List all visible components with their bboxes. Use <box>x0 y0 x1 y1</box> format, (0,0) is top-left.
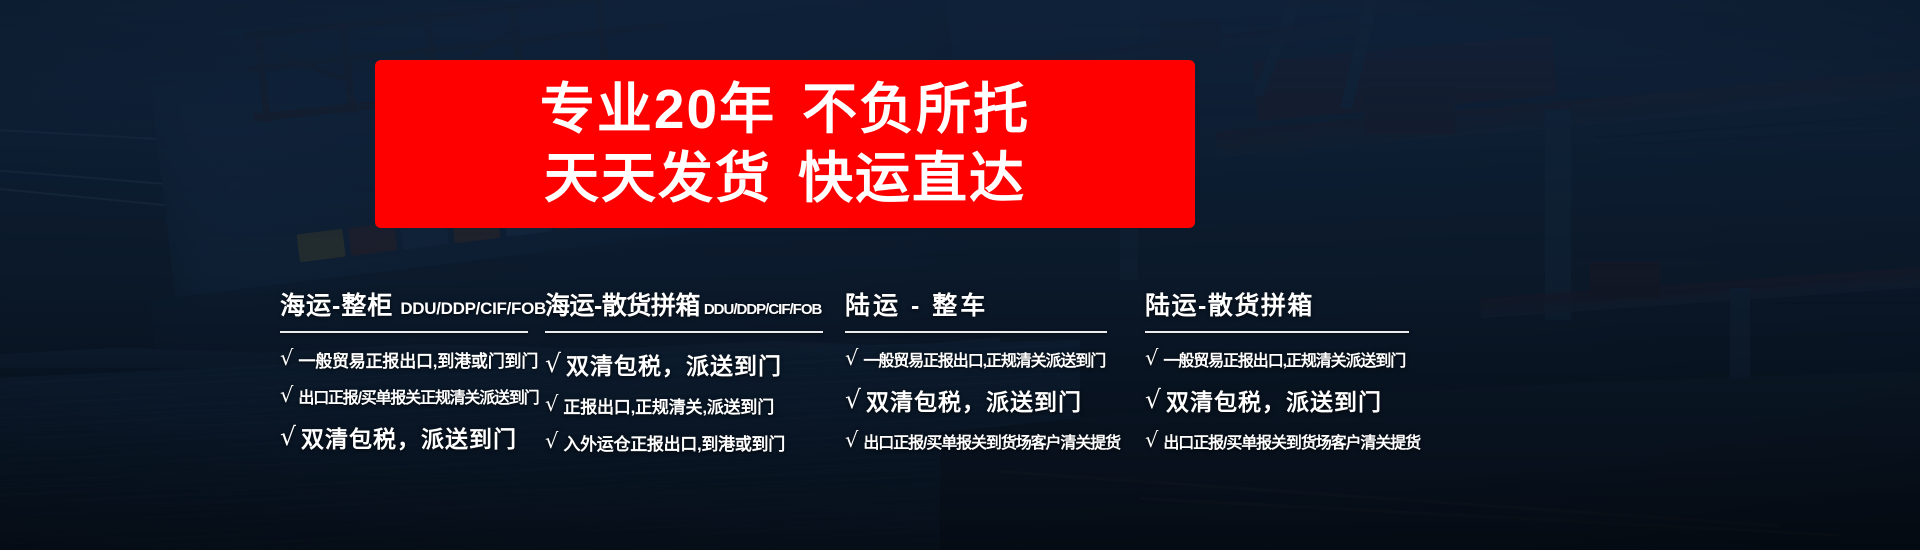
service-column-sea-fcl: 海运-整柜 DDU/DDP/CIF/FOB √ 一般贸易正报出口,到港或门到门 … <box>280 286 545 466</box>
service-title: 海运-整柜 <box>280 286 393 322</box>
service-item-list: √ 一般贸易正报出口,正规清关派送到门 √ 双清包税，派送到门 √ 出口正报/买… <box>1145 347 1435 453</box>
service-item-text: 双清包税，派送到门 <box>1166 383 1382 417</box>
divider-rule <box>845 331 1107 333</box>
service-header: 海运-整柜 DDU/DDP/CIF/FOB <box>280 286 545 322</box>
headline-line-1: 专业20年不负所托 <box>540 78 1030 141</box>
check-mark-icon: √ <box>1145 430 1158 451</box>
service-item-text: 正报出口,正规清关,派送到门 <box>563 393 774 418</box>
check-mark-icon: √ <box>280 424 296 449</box>
service-column-land-ltl: 陆运-散货拼箱 √ 一般贸易正报出口,正规清关派送到门 √ 双清包税，派送到门 … <box>1145 286 1435 465</box>
check-mark-icon: √ <box>545 431 558 452</box>
headline-line-1-part-a: 专业20年 <box>540 78 776 140</box>
check-mark-icon: √ <box>1145 348 1158 369</box>
service-column-land-ftl: 陆运 - 整车 √ 一般贸易正报出口,正规清关派送到门 √ 双清包税，派送到门 … <box>845 286 1145 465</box>
check-mark-icon: √ <box>845 387 861 412</box>
service-item-text: 入外运仓正报出口,到港或到门 <box>563 430 785 455</box>
check-mark-icon: √ <box>1145 387 1161 412</box>
service-item: √ 出口正报/买单报关到货场客户清关提货 <box>845 429 1145 453</box>
service-item-text: 出口正报/买单报关到货场客户清关提货 <box>863 429 1120 453</box>
service-item: √ 双清包税，派送到门 <box>1145 383 1435 417</box>
check-mark-icon: √ <box>845 430 858 451</box>
service-item-text: 一般贸易正报出口,到港或门到门 <box>298 347 538 372</box>
service-title: 陆运-散货拼箱 <box>1145 286 1314 322</box>
service-item: √ 出口正报/买单报关到货场客户清关提货 <box>1145 429 1435 453</box>
service-header: 陆运 - 整车 <box>845 286 1145 322</box>
service-item-text: 双清包税，派送到门 <box>866 383 1082 417</box>
check-mark-icon: √ <box>280 385 293 406</box>
service-item-text: 一般贸易正报出口,正规清关派送到门 <box>863 347 1105 371</box>
service-item: √ 入外运仓正报出口,到港或到门 <box>545 430 845 455</box>
service-item: √ 双清包税，派送到门 <box>845 383 1145 417</box>
headline-line-2-part-a: 天天发货 <box>544 147 772 209</box>
service-item-text: 出口正报/买单报关到货场客户清关提货 <box>1163 429 1420 453</box>
headline-line-1-part-b: 不负所托 <box>802 78 1030 140</box>
service-item: √ 正报出口,正规清关,派送到门 <box>545 393 845 418</box>
check-mark-icon: √ <box>545 394 558 415</box>
service-item-list: √ 一般贸易正报出口,到港或门到门 √ 出口正报/买单报关正规清关派送到门 √ … <box>280 347 545 454</box>
service-title: 海运-散货拼箱 <box>545 286 700 322</box>
service-item-list: √ 双清包税，派送到门 √ 正报出口,正规清关,派送到门 √ 入外运仓正报出口,… <box>545 347 845 455</box>
service-item: √ 一般贸易正报出口,正规清关派送到门 <box>845 347 1145 371</box>
service-item: √ 双清包税，派送到门 <box>545 347 845 381</box>
headline-plaque: 专业20年不负所托 天天发货快运直达 <box>375 60 1195 228</box>
divider-rule <box>280 331 528 333</box>
divider-rule <box>545 331 823 333</box>
service-item: √ 一般贸易正报出口,正规清关派送到门 <box>1145 347 1435 371</box>
service-header: 海运-散货拼箱 DDU/DDP/CIF/FOB <box>545 286 845 322</box>
divider-rule <box>1145 331 1409 333</box>
service-item: √ 双清包税，派送到门 <box>280 420 545 454</box>
service-terms: DDU/DDP/CIF/FOB <box>704 301 822 318</box>
service-item: √ 一般贸易正报出口,到港或门到门 <box>280 347 545 372</box>
service-item-list: √ 一般贸易正报出口,正规清关派送到门 √ 双清包税，派送到门 √ 出口正报/买… <box>845 347 1145 453</box>
service-item: √ 出口正报/买单报关正规清关派送到门 <box>280 384 545 408</box>
service-item-text: 双清包税，派送到门 <box>301 420 517 454</box>
check-mark-icon: √ <box>280 348 293 369</box>
service-title: 陆运 - 整车 <box>845 286 988 322</box>
service-columns: 海运-整柜 DDU/DDP/CIF/FOB √ 一般贸易正报出口,到港或门到门 … <box>280 286 1600 516</box>
headline-line-2-part-b: 快运直达 <box>798 147 1026 209</box>
service-item-text: 一般贸易正报出口,正规清关派送到门 <box>1163 347 1405 371</box>
service-column-sea-lcl: 海运-散货拼箱 DDU/DDP/CIF/FOB √ 双清包税，派送到门 √ 正报… <box>545 286 845 467</box>
service-item-text: 出口正报/买单报关正规清关派送到门 <box>298 384 538 408</box>
check-mark-icon: √ <box>845 348 858 369</box>
headline-line-2: 天天发货快运直达 <box>544 147 1026 210</box>
service-terms: DDU/DDP/CIF/FOB <box>400 299 546 319</box>
promo-banner: 专业20年不负所托 天天发货快运直达 海运-整柜 DDU/DDP/CIF/FOB… <box>0 0 1920 550</box>
check-mark-icon: √ <box>545 351 561 376</box>
service-header: 陆运-散货拼箱 <box>1145 286 1435 322</box>
service-item-text: 双清包税，派送到门 <box>566 347 782 381</box>
